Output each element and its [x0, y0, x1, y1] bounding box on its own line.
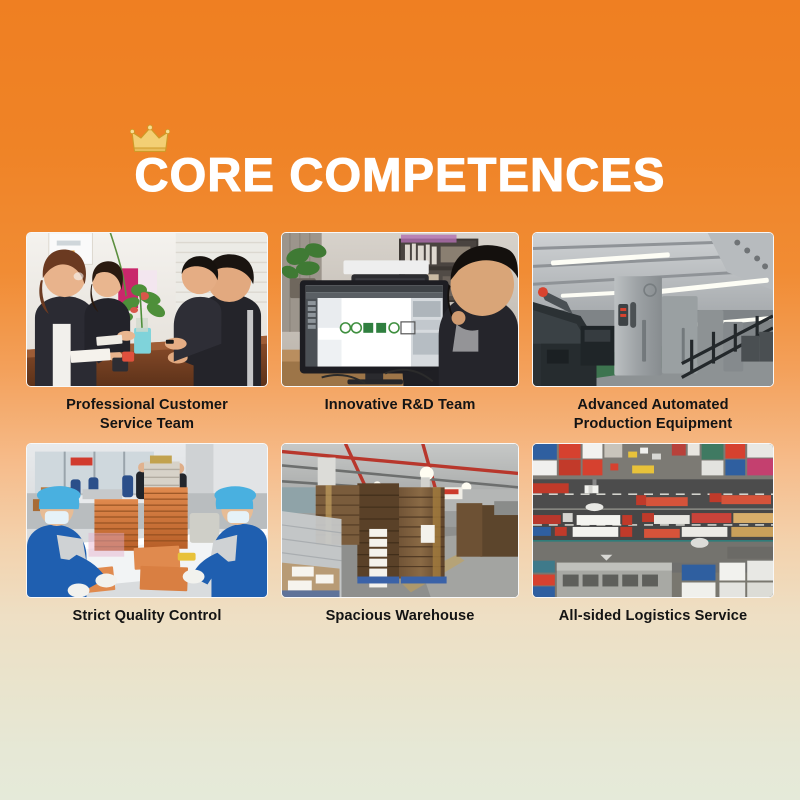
competence-card[interactable]: Spacious Warehouse — [281, 443, 519, 645]
competences-row: Strict Quality Control — [26, 443, 774, 645]
core-competences-banner: CORE COMPETENCES — [0, 0, 800, 800]
competence-card[interactable]: Strict Quality Control — [26, 443, 268, 645]
photo-professional-customer-service-team — [26, 232, 268, 387]
competence-card[interactable]: Professional Customer Service Team — [26, 232, 268, 434]
photo-advanced-automated-production-equipment — [532, 232, 774, 387]
photo-innovative-rd-team — [281, 232, 519, 387]
photo-spacious-warehouse — [281, 443, 519, 598]
competence-card[interactable]: Advanced Automated Production Equipment — [532, 232, 774, 434]
card-caption: Strict Quality Control — [73, 607, 222, 645]
competence-card[interactable]: All-sided Logistics Service — [532, 443, 774, 645]
card-caption: Innovative R&D Team — [325, 396, 476, 434]
competences-grid: Professional Customer Service Team — [26, 232, 774, 645]
competences-row: Professional Customer Service Team — [26, 232, 774, 434]
card-caption: All-sided Logistics Service — [559, 607, 747, 645]
card-caption: Advanced Automated Production Equipment — [574, 396, 732, 434]
page-title: CORE COMPETENCES — [134, 150, 665, 201]
card-caption: Professional Customer Service Team — [66, 396, 228, 434]
photo-strict-quality-control — [26, 443, 268, 598]
title-block: CORE COMPETENCES — [0, 150, 800, 201]
photo-all-sided-logistics-service — [532, 443, 774, 598]
card-caption: Spacious Warehouse — [326, 607, 475, 645]
competence-card[interactable]: Innovative R&D Team — [281, 232, 519, 434]
